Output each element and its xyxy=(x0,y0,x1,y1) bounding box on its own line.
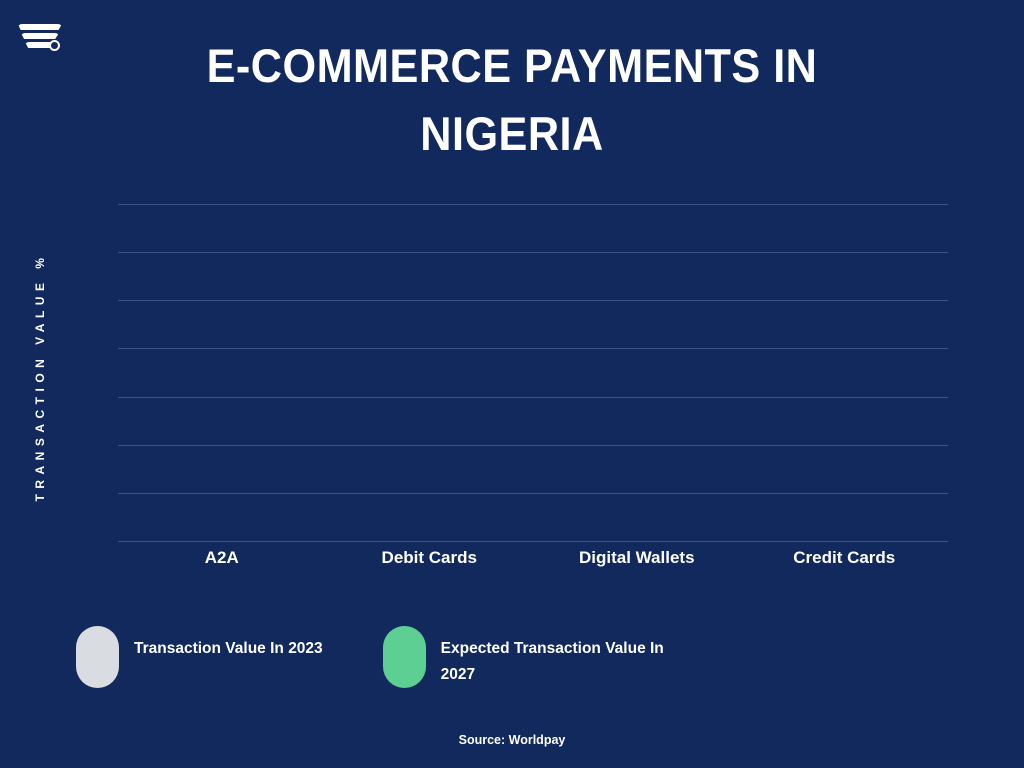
x-axis-label: A2A xyxy=(205,548,239,568)
gridline xyxy=(118,541,948,542)
bar-group xyxy=(118,204,326,541)
x-axis-label: Debit Cards xyxy=(382,548,477,568)
x-axis-label: Credit Cards xyxy=(793,548,895,568)
legend-swatch xyxy=(76,626,119,688)
bars-layer xyxy=(118,204,948,541)
legend-swatch xyxy=(383,626,426,688)
plot-area: 05101520253035 xyxy=(118,204,948,541)
bar-group xyxy=(533,204,741,541)
chart-legend: Transaction Value In 2023Expected Transa… xyxy=(76,626,671,688)
x-axis-labels: A2ADebit CardsDigital WalletsCredit Card… xyxy=(118,548,948,576)
legend-item[interactable]: Expected Transaction Value In 2027 xyxy=(383,626,671,688)
legend-label: Transaction Value In 2023 xyxy=(134,626,323,662)
y-axis-title: TRANSACTION VALUE % xyxy=(33,227,47,527)
legend-item[interactable]: Transaction Value In 2023 xyxy=(76,626,323,688)
bar-group xyxy=(326,204,534,541)
source-caption: Source: Worldpay xyxy=(0,733,1024,747)
legend-label: Expected Transaction Value In 2027 xyxy=(441,626,671,688)
x-axis-label: Digital Wallets xyxy=(579,548,695,568)
bar-group xyxy=(741,204,949,541)
